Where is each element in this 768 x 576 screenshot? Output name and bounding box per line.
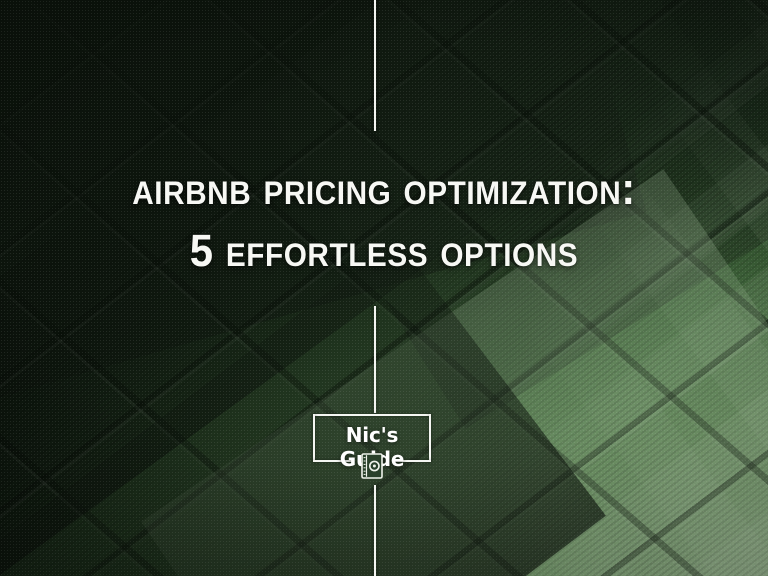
logo-border-top xyxy=(313,414,431,416)
vertical-rule-bottom xyxy=(374,485,376,576)
brand-logo-lockup: Nic's Guide xyxy=(313,414,431,462)
vertical-rule-middle xyxy=(374,306,376,413)
title-line-1: Airbnb Pricing Optimization: xyxy=(27,158,741,220)
title-line-2: 5 Effortless Options xyxy=(27,220,741,282)
poster-canvas: Airbnb Pricing Optimization: 5 Effortles… xyxy=(0,0,768,576)
poster-foreground: Airbnb Pricing Optimization: 5 Effortles… xyxy=(0,0,768,576)
book-safe-icon xyxy=(361,453,383,479)
page-title: Airbnb Pricing Optimization: 5 Effortles… xyxy=(27,158,741,282)
vertical-rule-top xyxy=(374,0,376,131)
